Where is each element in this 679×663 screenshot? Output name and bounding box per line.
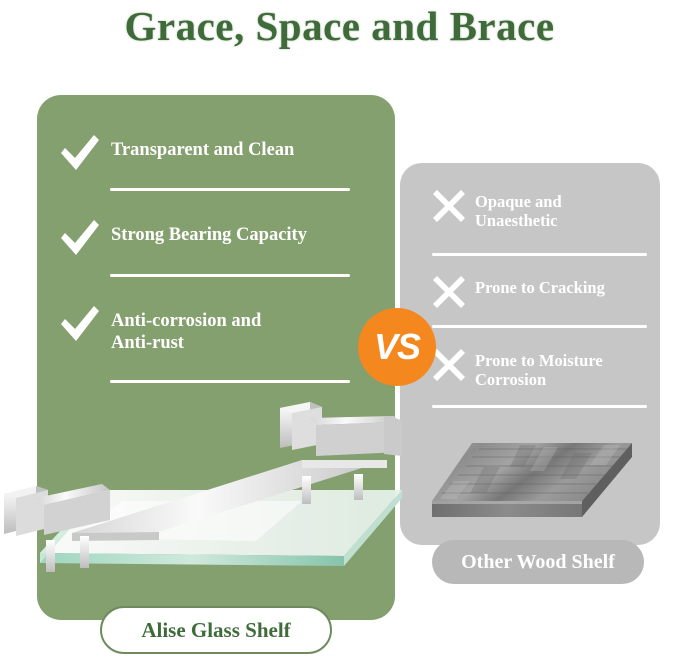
feature-row: Prone to MoistureCorrosion bbox=[432, 348, 603, 390]
feature-label: Transparent and Clean bbox=[111, 133, 294, 162]
feature-divider bbox=[432, 405, 647, 408]
wood-shelf-name-pill: Other Wood Shelf bbox=[432, 540, 644, 584]
feature-row: Anti-corrosion andAnti-rust bbox=[59, 304, 261, 355]
glass-shelf-name-pill: Alise Glass Shelf bbox=[100, 606, 332, 654]
feature-row: Transparent and Clean bbox=[59, 133, 294, 173]
feature-label: Prone to Cracking bbox=[475, 275, 605, 297]
x-icon bbox=[432, 275, 466, 309]
feature-label: Strong Bearing Capacity bbox=[111, 218, 307, 247]
vs-badge-label: VS bbox=[374, 329, 420, 365]
page-title: Grace, Space and Brace bbox=[0, 2, 679, 50]
check-icon bbox=[59, 218, 101, 258]
feature-divider bbox=[110, 380, 350, 383]
feature-divider bbox=[110, 274, 350, 277]
x-icon bbox=[432, 189, 466, 223]
feature-divider bbox=[432, 325, 647, 328]
feature-label: Anti-corrosion andAnti-rust bbox=[111, 304, 261, 355]
x-icon bbox=[432, 348, 466, 382]
feature-divider bbox=[432, 253, 647, 256]
vs-badge: VS bbox=[358, 308, 436, 386]
feature-label: Opaque andUnaesthetic bbox=[475, 189, 562, 231]
wood-shelf-product-image bbox=[424, 437, 644, 542]
feature-row: Opaque andUnaesthetic bbox=[432, 189, 562, 231]
check-icon bbox=[59, 133, 101, 173]
feature-row: Prone to Cracking bbox=[432, 275, 605, 309]
glass-shelf-product-image bbox=[2, 398, 412, 593]
feature-label: Prone to MoistureCorrosion bbox=[475, 348, 603, 390]
check-icon bbox=[59, 304, 101, 344]
feature-row: Strong Bearing Capacity bbox=[59, 218, 307, 258]
feature-divider bbox=[110, 188, 350, 191]
